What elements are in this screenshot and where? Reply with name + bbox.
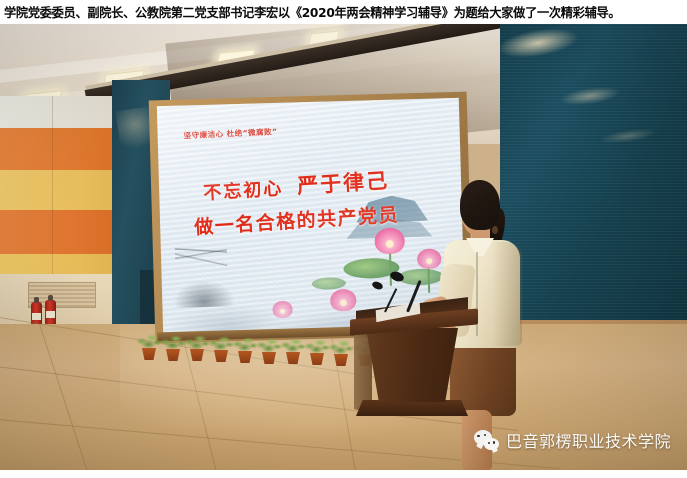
potted-plant — [136, 326, 162, 360]
lotus-flower — [374, 227, 405, 254]
potted-plant — [184, 327, 210, 361]
potted-plant — [232, 329, 258, 363]
plant-pot — [286, 352, 300, 364]
podium-base — [356, 400, 468, 416]
plant-foliage — [208, 331, 234, 353]
projection-screen: 坚守廉洁心 杜绝“微腐败” 不忘初心严于律己 做一名合格的共产党员 — [157, 98, 465, 336]
plant-pot — [334, 354, 348, 366]
plant-pot — [166, 349, 180, 361]
extinguisher-label — [46, 311, 55, 318]
wechat-icon — [474, 430, 499, 450]
plant-pot — [142, 348, 156, 360]
photograph: 坚守廉洁心 杜绝“微腐败” 不忘初心严于律己 做一名合格的共产党员 — [0, 24, 687, 470]
wechat-watermark: 巴音郭楞职业技术学院 — [474, 428, 671, 452]
extinguisher-nozzle — [48, 295, 53, 301]
wechat-dot — [488, 442, 490, 444]
wechat-account-name: 巴音郭楞职业技术学院 — [506, 428, 671, 452]
extinguisher-nozzle — [34, 297, 39, 303]
potted-plant — [160, 327, 186, 361]
plant-pot — [190, 349, 204, 361]
plant-foliage — [280, 333, 306, 355]
plant-pot — [262, 352, 276, 364]
potted-plant — [208, 328, 234, 362]
blouse-shading — [492, 242, 522, 346]
extinguisher-label — [32, 313, 41, 320]
lectern-podium — [350, 304, 478, 448]
slide-headline-part2: 严于律己 — [296, 169, 389, 199]
plant-foliage — [136, 329, 162, 351]
plant-foliage — [160, 330, 186, 352]
slide-headline-line1: 不忘初心严于律己 — [202, 165, 390, 207]
potted-plant — [304, 331, 330, 365]
plant-foliage — [184, 330, 210, 352]
wechat-bubble-small — [484, 438, 499, 450]
podium-body — [366, 328, 458, 402]
plant-foliage — [232, 332, 258, 354]
bottom-white-margin — [0, 470, 687, 478]
screen-surface: 坚守廉洁心 杜绝“微腐败” 不忘初心严于律己 做一名合格的共产党员 — [157, 98, 465, 336]
potted-plant — [280, 330, 306, 364]
plant-pot — [238, 351, 252, 363]
plant-foliage — [304, 334, 330, 356]
floor-tile-line — [39, 324, 102, 470]
slide-headline-part1: 不忘初心 — [203, 178, 284, 204]
article-photo-page: 学院党委委员、副院长、公教院第二党支部书记李宏以《2020年两会精神学习辅导》为… — [0, 0, 687, 478]
plant-foliage — [256, 333, 282, 355]
potted-plant — [256, 330, 282, 364]
nose-shadow — [492, 226, 498, 234]
rock-illustration — [174, 280, 235, 308]
photo-caption-bar: 学院党委委员、副院长、公教院第二党支部书记李宏以《2020年两会精神学习辅导》为… — [0, 0, 687, 24]
hair — [460, 180, 500, 230]
plant-pot — [310, 353, 324, 365]
lotus-flower — [272, 301, 292, 319]
slide-banner-text: 坚守廉洁心 杜绝“微腐败” — [183, 126, 277, 141]
photo-caption-text: 学院党委委员、副院长、公教院第二党支部书记李宏以《2020年两会精神学习辅导》为… — [4, 6, 620, 19]
plant-pot — [214, 350, 228, 362]
wechat-dot — [477, 435, 479, 437]
